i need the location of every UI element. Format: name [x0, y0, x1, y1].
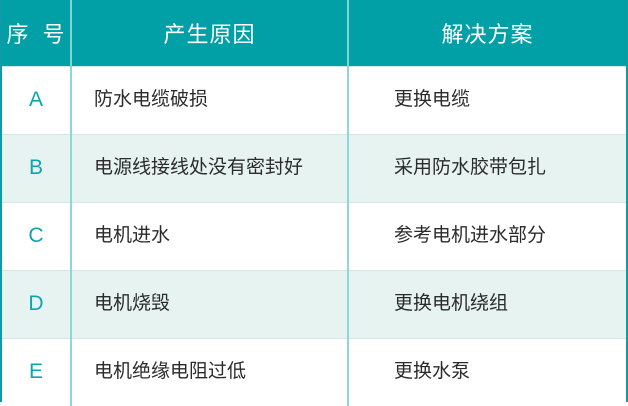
sequence-text: D	[2, 291, 70, 316]
column-header-sequence: 序 号	[2, 0, 71, 66]
sequence-text: A	[2, 87, 70, 112]
table-row: D 电机烧毁 更换电机绕组	[2, 270, 626, 338]
solution-text: 更换电缆	[394, 89, 626, 112]
header-row: 序 号 产生原因 解决方案	[2, 0, 626, 66]
row-cause-cell: 电机绝缘电阻过低	[71, 338, 348, 406]
cause-text: 电机烧毁	[94, 293, 347, 316]
column-header-solution: 解决方案	[348, 0, 626, 66]
sequence-text: B	[2, 155, 70, 180]
table-header: 序 号 产生原因 解决方案	[2, 0, 626, 66]
row-solution-cell: 更换电机绕组	[348, 270, 626, 338]
row-solution-cell: 更换电缆	[348, 66, 626, 134]
table-row: C 电机进水 参考电机进水部分	[2, 202, 626, 270]
row-solution-cell: 参考电机进水部分	[348, 202, 626, 270]
table-row: E 电机绝缘电阻过低 更换水泵	[2, 338, 626, 406]
cause-text: 防水电缆破损	[94, 89, 347, 112]
row-solution-cell: 采用防水胶带包扎	[348, 134, 626, 202]
column-header-cause: 产生原因	[71, 0, 348, 66]
row-cause-cell: 电源线接线处没有密封好	[71, 134, 348, 202]
fault-cause-solution-table: 序 号 产生原因 解决方案 A 防水电缆破损 更换电缆 B	[0, 0, 628, 402]
row-cause-cell: 电机进水	[71, 202, 348, 270]
table-row: B 电源线接线处没有密封好 采用防水胶带包扎	[2, 134, 626, 202]
solution-text: 参考电机进水部分	[394, 225, 626, 248]
row-cause-cell: 防水电缆破损	[71, 66, 348, 134]
table-body: A 防水电缆破损 更换电缆 B 电源线接线处没有密封好 采用防水胶带包扎	[2, 66, 626, 406]
solution-text: 更换电机绕组	[394, 293, 626, 316]
row-solution-cell: 更换水泵	[348, 338, 626, 406]
table-row: A 防水电缆破损 更换电缆	[2, 66, 626, 134]
solution-text: 采用防水胶带包扎	[394, 157, 626, 180]
row-sequence-label: B	[2, 134, 71, 202]
row-sequence-label: D	[2, 270, 71, 338]
row-sequence-label: C	[2, 202, 71, 270]
cause-text: 电机进水	[94, 225, 347, 248]
solution-text: 更换水泵	[394, 361, 626, 384]
table: 序 号 产生原因 解决方案 A 防水电缆破损 更换电缆 B	[2, 0, 626, 406]
row-cause-cell: 电机烧毁	[71, 270, 348, 338]
sequence-text: C	[2, 223, 70, 248]
cause-text: 电机绝缘电阻过低	[94, 361, 347, 384]
sequence-text: E	[2, 359, 70, 384]
cause-text: 电源线接线处没有密封好	[94, 157, 347, 180]
row-sequence-label: E	[2, 338, 71, 406]
row-sequence-label: A	[2, 66, 71, 134]
